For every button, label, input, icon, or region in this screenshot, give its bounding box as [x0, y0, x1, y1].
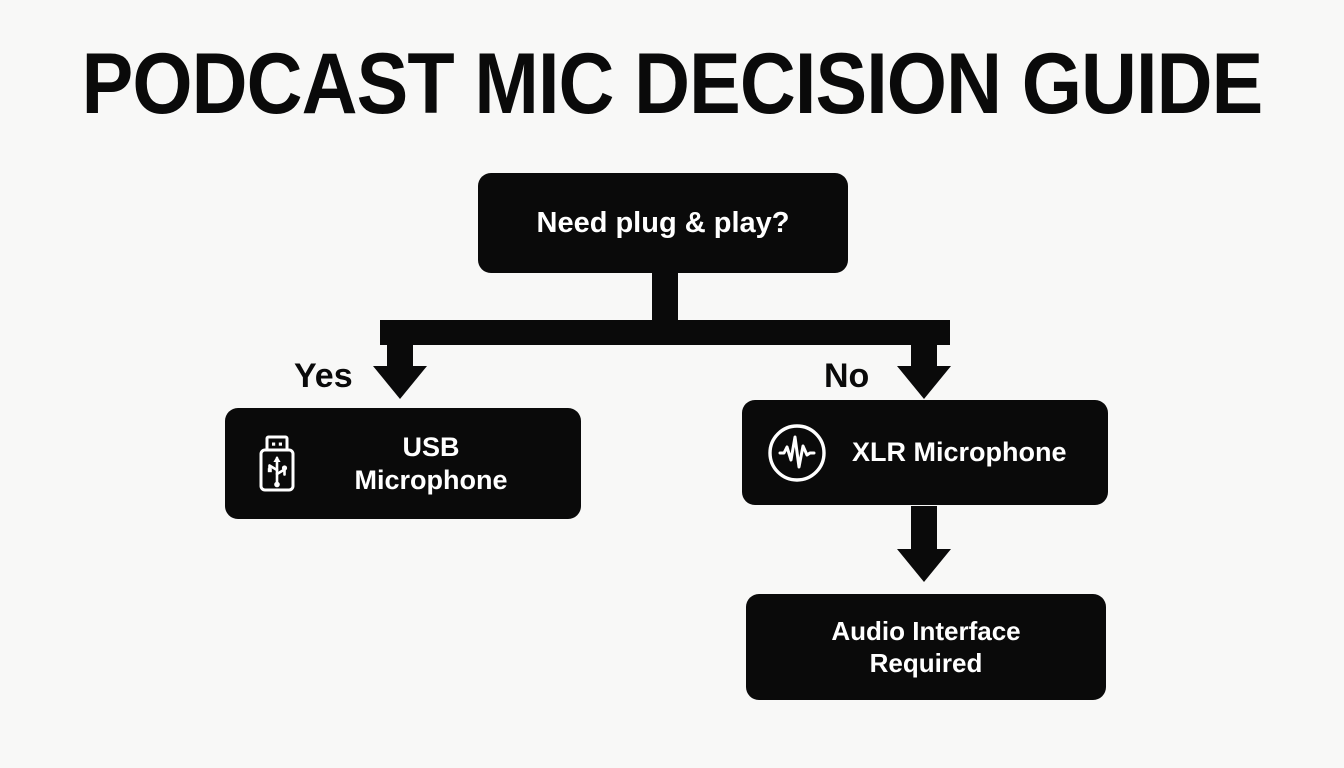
node-interface-label: Audio Interface Required	[831, 615, 1020, 679]
node-usb-label: USB Microphone	[299, 431, 581, 497]
arrow-head-no-icon	[897, 366, 951, 399]
connector-xlr-to-interface	[911, 506, 937, 551]
arrow-head-yes-icon	[373, 366, 427, 399]
connector-split-bar	[380, 320, 950, 345]
node-decision-label: Need plug & play?	[537, 206, 790, 240]
connector-decision-stub	[652, 272, 678, 322]
audio-waveform-circle-icon	[766, 422, 828, 484]
node-decision-need-plug-and-play[interactable]: Need plug & play?	[478, 173, 848, 273]
arrow-head-interface-icon	[897, 549, 951, 582]
node-usb-microphone[interactable]: USB Microphone	[225, 408, 581, 519]
flowchart-canvas: PODCAST MIC DECISION GUIDE Need plug & p…	[0, 0, 1344, 768]
node-xlr-label: XLR Microphone	[852, 436, 1067, 469]
page-title: PODCAST MIC DECISION GUIDE	[67, 36, 1277, 132]
branch-label-no: No	[824, 357, 869, 395]
usb-drive-icon	[255, 435, 299, 493]
node-xlr-microphone[interactable]: XLR Microphone	[742, 400, 1108, 505]
branch-label-yes: Yes	[294, 357, 353, 395]
node-audio-interface-required[interactable]: Audio Interface Required	[746, 594, 1106, 700]
